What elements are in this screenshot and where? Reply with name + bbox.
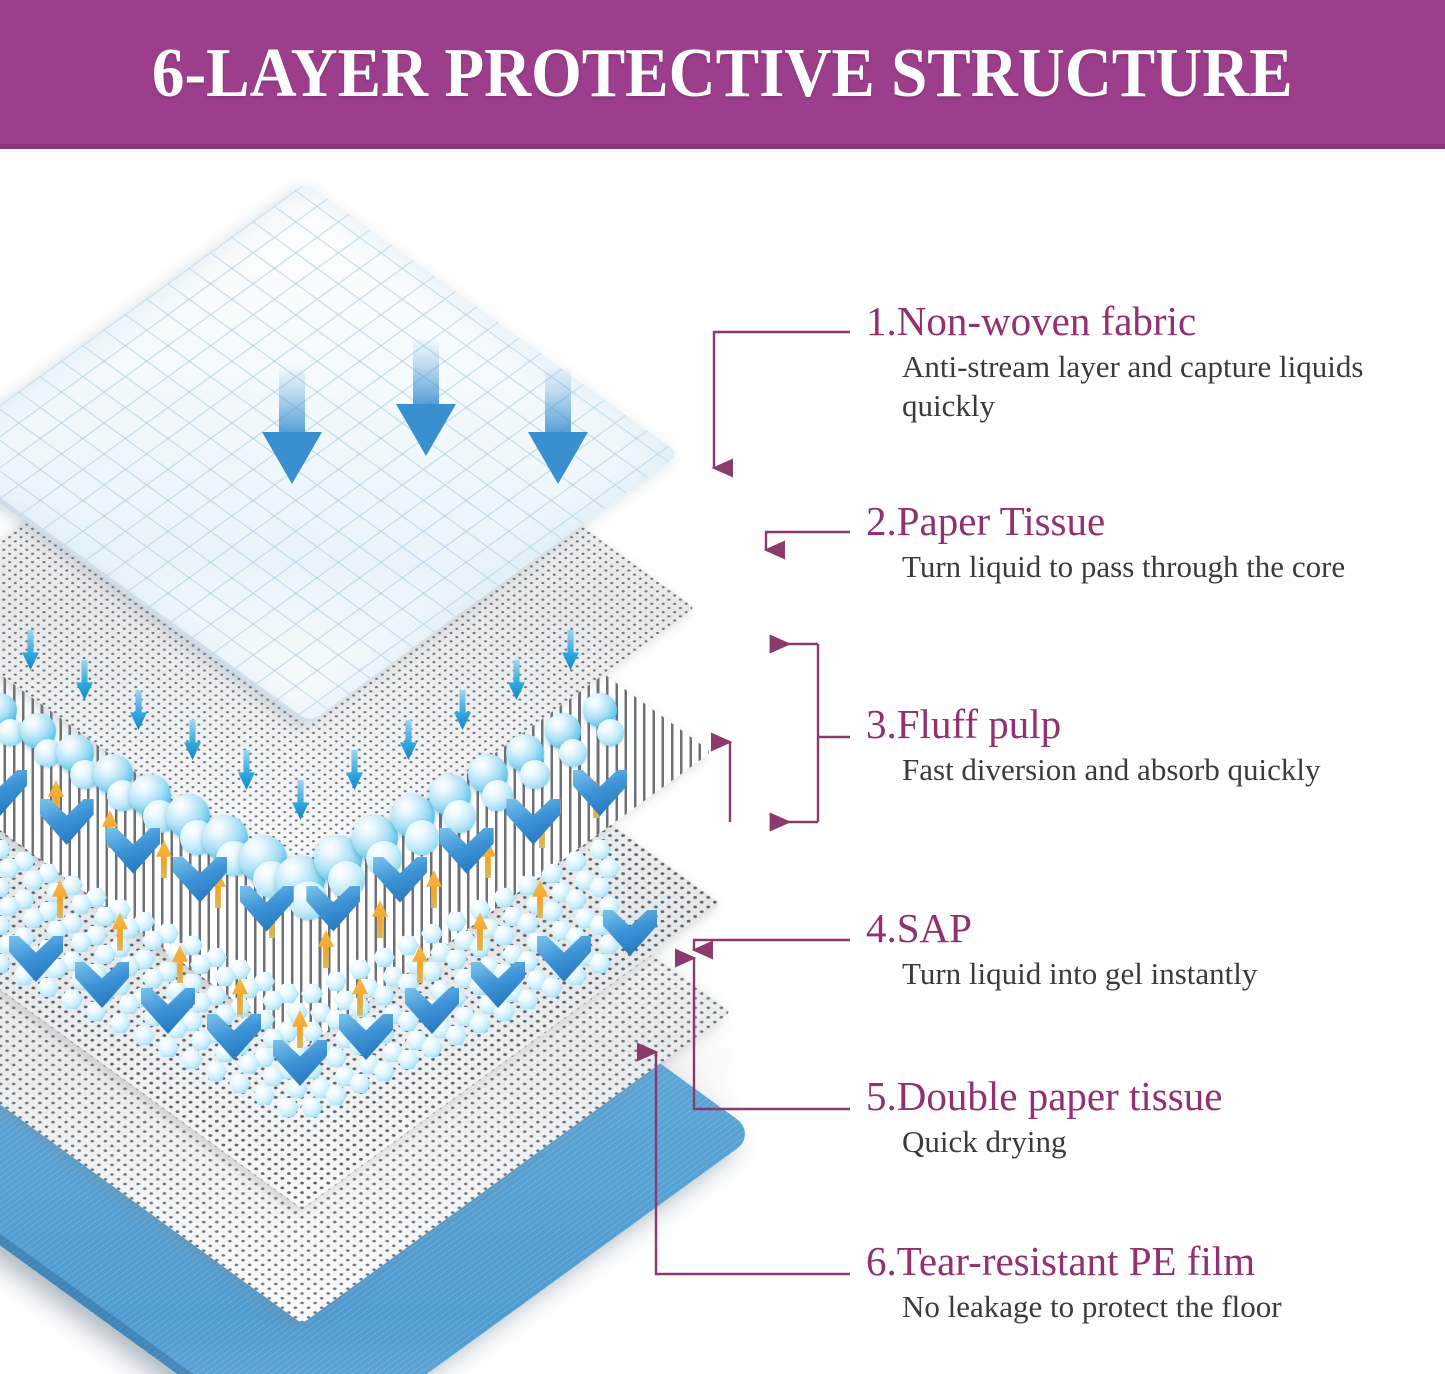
callout-description: Turn liquid to pass through the core (902, 547, 1372, 586)
leader-line-2 (766, 532, 850, 550)
callout-title: 1.Non-woven fabric (866, 300, 1426, 343)
callout-description: Quick drying (902, 1122, 1372, 1161)
callout-description: Fast diversion and absorb quickly (902, 750, 1372, 789)
callout-6-tear-resistant-pe-film[interactable]: 6.Tear-resistant PE film No leakage to p… (866, 1240, 1426, 1326)
infographic-page: 6-LAYER PROTECTIVE STRUCTURE (0, 0, 1445, 1374)
callout-description: No leakage to protect the floor (902, 1287, 1372, 1326)
leader-line-4 (694, 940, 850, 950)
callout-title: 2.Paper Tissue (866, 500, 1426, 543)
header-underline (0, 144, 1445, 149)
callout-title: 4.SAP (866, 907, 1426, 950)
callout-description: Turn liquid into gel instantly (902, 954, 1372, 993)
leader-line-6 (656, 1052, 850, 1274)
callout-1-non-woven-fabric[interactable]: 1.Non-woven fabric Anti-stream layer and… (866, 300, 1426, 425)
callout-4-sap[interactable]: 4.SAP Turn liquid into gel instantly (866, 907, 1426, 993)
leader-line-1 (714, 332, 850, 468)
callout-title: 5.Double paper tissue (866, 1075, 1426, 1118)
callout-2-paper-tissue[interactable]: 2.Paper Tissue Turn liquid to pass throu… (866, 500, 1426, 586)
callout-title: 6.Tear-resistant PE film (866, 1240, 1426, 1283)
callout-3-fluff-pulp[interactable]: 3.Fluff pulp Fast diversion and absorb q… (866, 703, 1426, 789)
leader-line-5 (694, 958, 850, 1109)
callout-description: Anti-stream layer and capture liquids qu… (902, 347, 1372, 425)
page-title: 6-LAYER PROTECTIVE STRUCTURE (152, 34, 1293, 114)
callout-5-double-paper-tissue[interactable]: 5.Double paper tissue Quick drying (866, 1075, 1426, 1161)
callout-title: 3.Fluff pulp (866, 703, 1426, 746)
header-banner: 6-LAYER PROTECTIVE STRUCTURE (0, 0, 1445, 148)
